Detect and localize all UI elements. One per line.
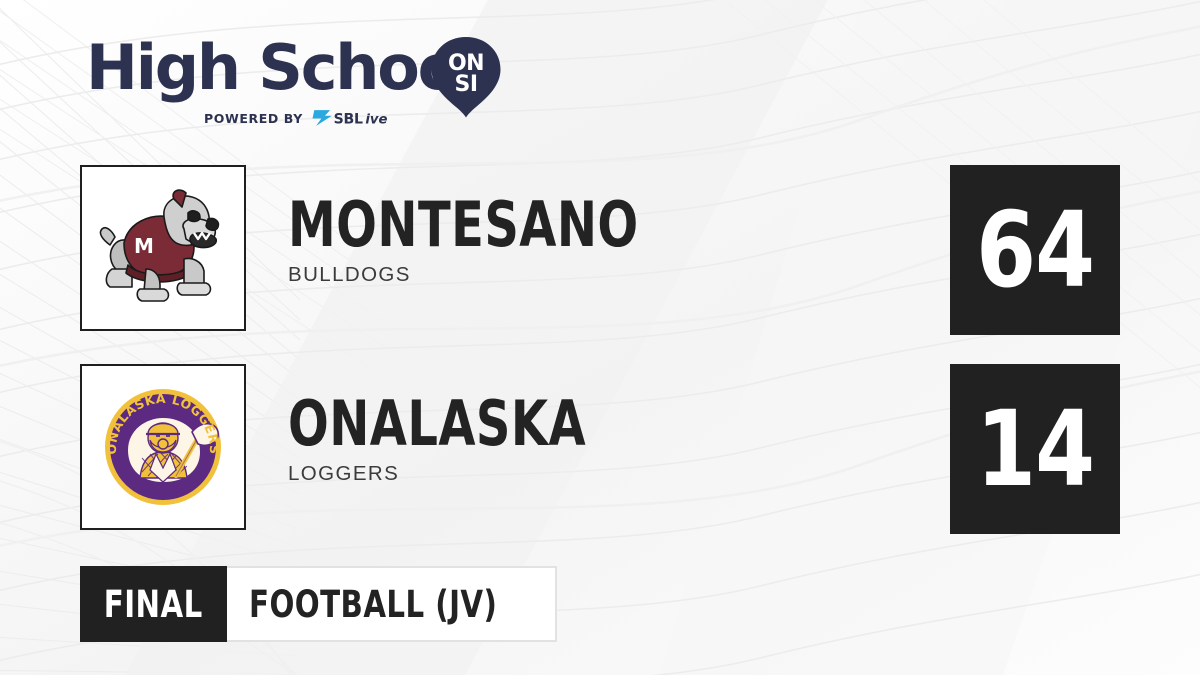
team-mascot: BULLDOGS: [288, 263, 928, 287]
team-score: 14: [976, 397, 1094, 501]
brand-title: High School: [86, 32, 477, 104]
team-row: ONALASKA LOGGERS ONALASKA LOGGERS 14: [80, 364, 1120, 534]
sblive-text-bold: SBL: [334, 112, 363, 128]
powered-by-label: POWERED BY: [204, 111, 303, 126]
jersey-letter: M: [134, 234, 154, 258]
team-identity: ONALASKA LOGGERS: [288, 392, 928, 486]
team-identity: MONTESANO BULLDOGS: [288, 193, 928, 287]
team-score-box: 64: [950, 165, 1120, 335]
team-mascot: LOGGERS: [288, 462, 928, 486]
sport-label-panel: FOOTBALL (JV): [227, 566, 557, 642]
team-score: 64: [976, 198, 1094, 302]
status-badge-label: FINAL: [104, 583, 203, 626]
team-row: M MONTESANO BULLDOGS 64: [80, 165, 1120, 335]
team-logo-box: M: [80, 165, 246, 331]
sblive-logo-icon: SBL ive: [309, 108, 413, 128]
pin-text-si: SI: [454, 72, 477, 97]
team-logo-box: ONALASKA LOGGERS: [80, 364, 246, 530]
on-si-pin-icon: ON SI: [430, 36, 502, 118]
onalaska-loggers-logo: ONALASKA LOGGERS: [88, 372, 238, 522]
powered-by-lockup: POWERED BY SBL ive: [204, 108, 413, 128]
brand-lockup: High School ON SI POWERED BY SBL ive: [86, 32, 516, 134]
game-status-bar: FINAL FOOTBALL (JV): [80, 566, 557, 642]
scoreboard-graphic: High School ON SI POWERED BY SBL ive: [0, 0, 1200, 675]
montesano-bulldogs-logo: M: [88, 173, 238, 323]
status-badge: FINAL: [80, 566, 227, 642]
team-score-box: 14: [950, 364, 1120, 534]
team-name: ONALASKA: [288, 392, 838, 456]
sport-label: FOOTBALL (JV): [249, 583, 497, 626]
sblive-text-italic: ive: [365, 113, 387, 128]
team-name: MONTESANO: [288, 193, 838, 257]
